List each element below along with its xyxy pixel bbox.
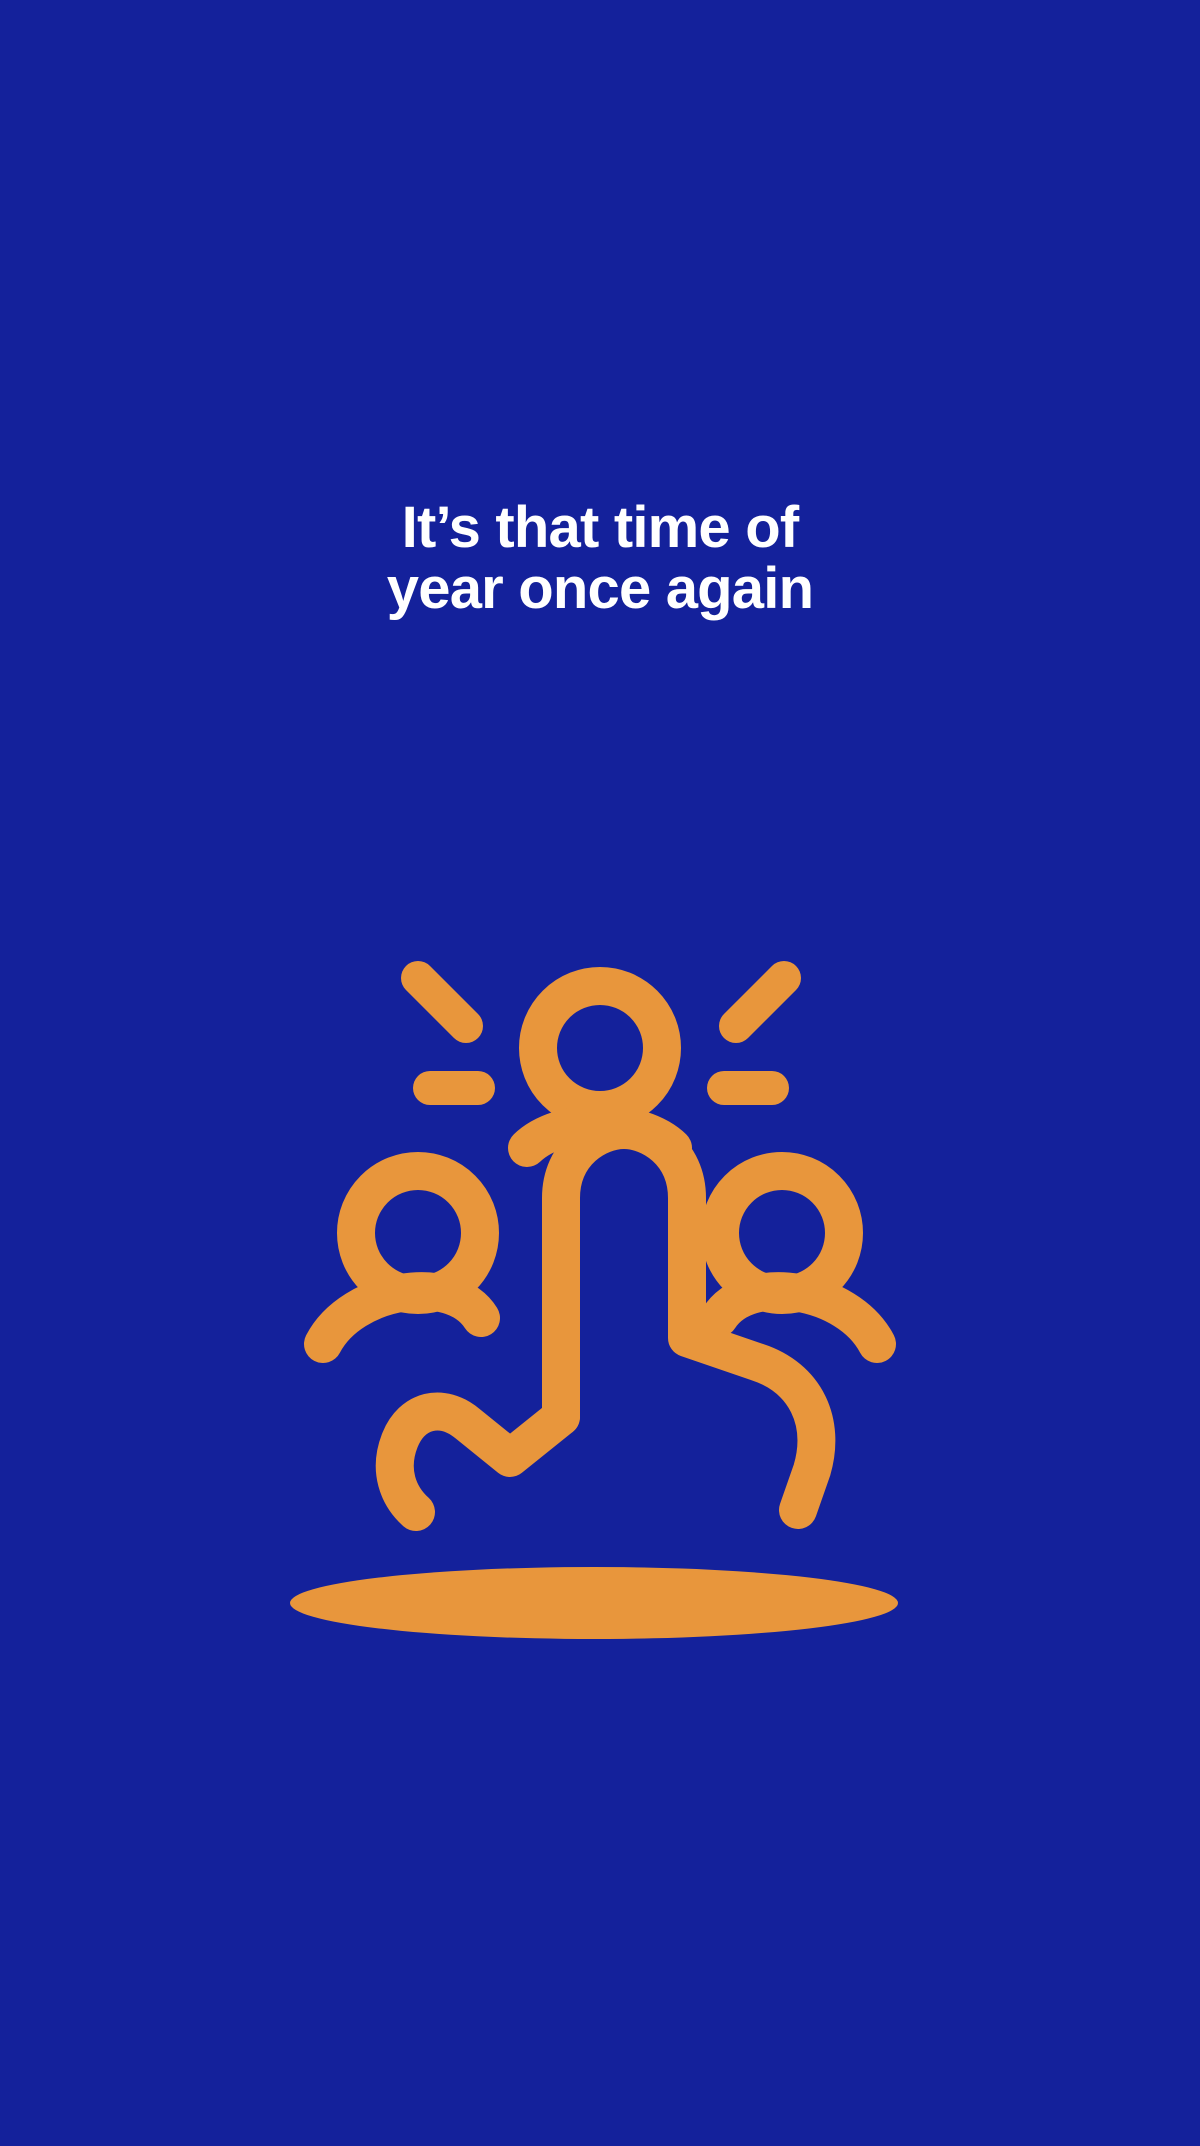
page-title: It’s that time of year once again [0,498,1200,620]
ground-shadow [290,1567,898,1639]
headline-block: It’s that time of year once again [0,498,1200,620]
headline-line-1: It’s that time of [0,498,1200,559]
headline-line-2: year once again [0,559,1200,620]
sparkle-left-diagonal-icon [418,978,466,1026]
figure-right [719,1171,877,1344]
sparkle-right-diagonal-icon [736,978,784,1026]
three-people-celebrating-illustration [0,930,1200,1710]
figure-left [323,1171,481,1344]
poster-canvas: It’s that time of year once again [0,0,1200,2146]
